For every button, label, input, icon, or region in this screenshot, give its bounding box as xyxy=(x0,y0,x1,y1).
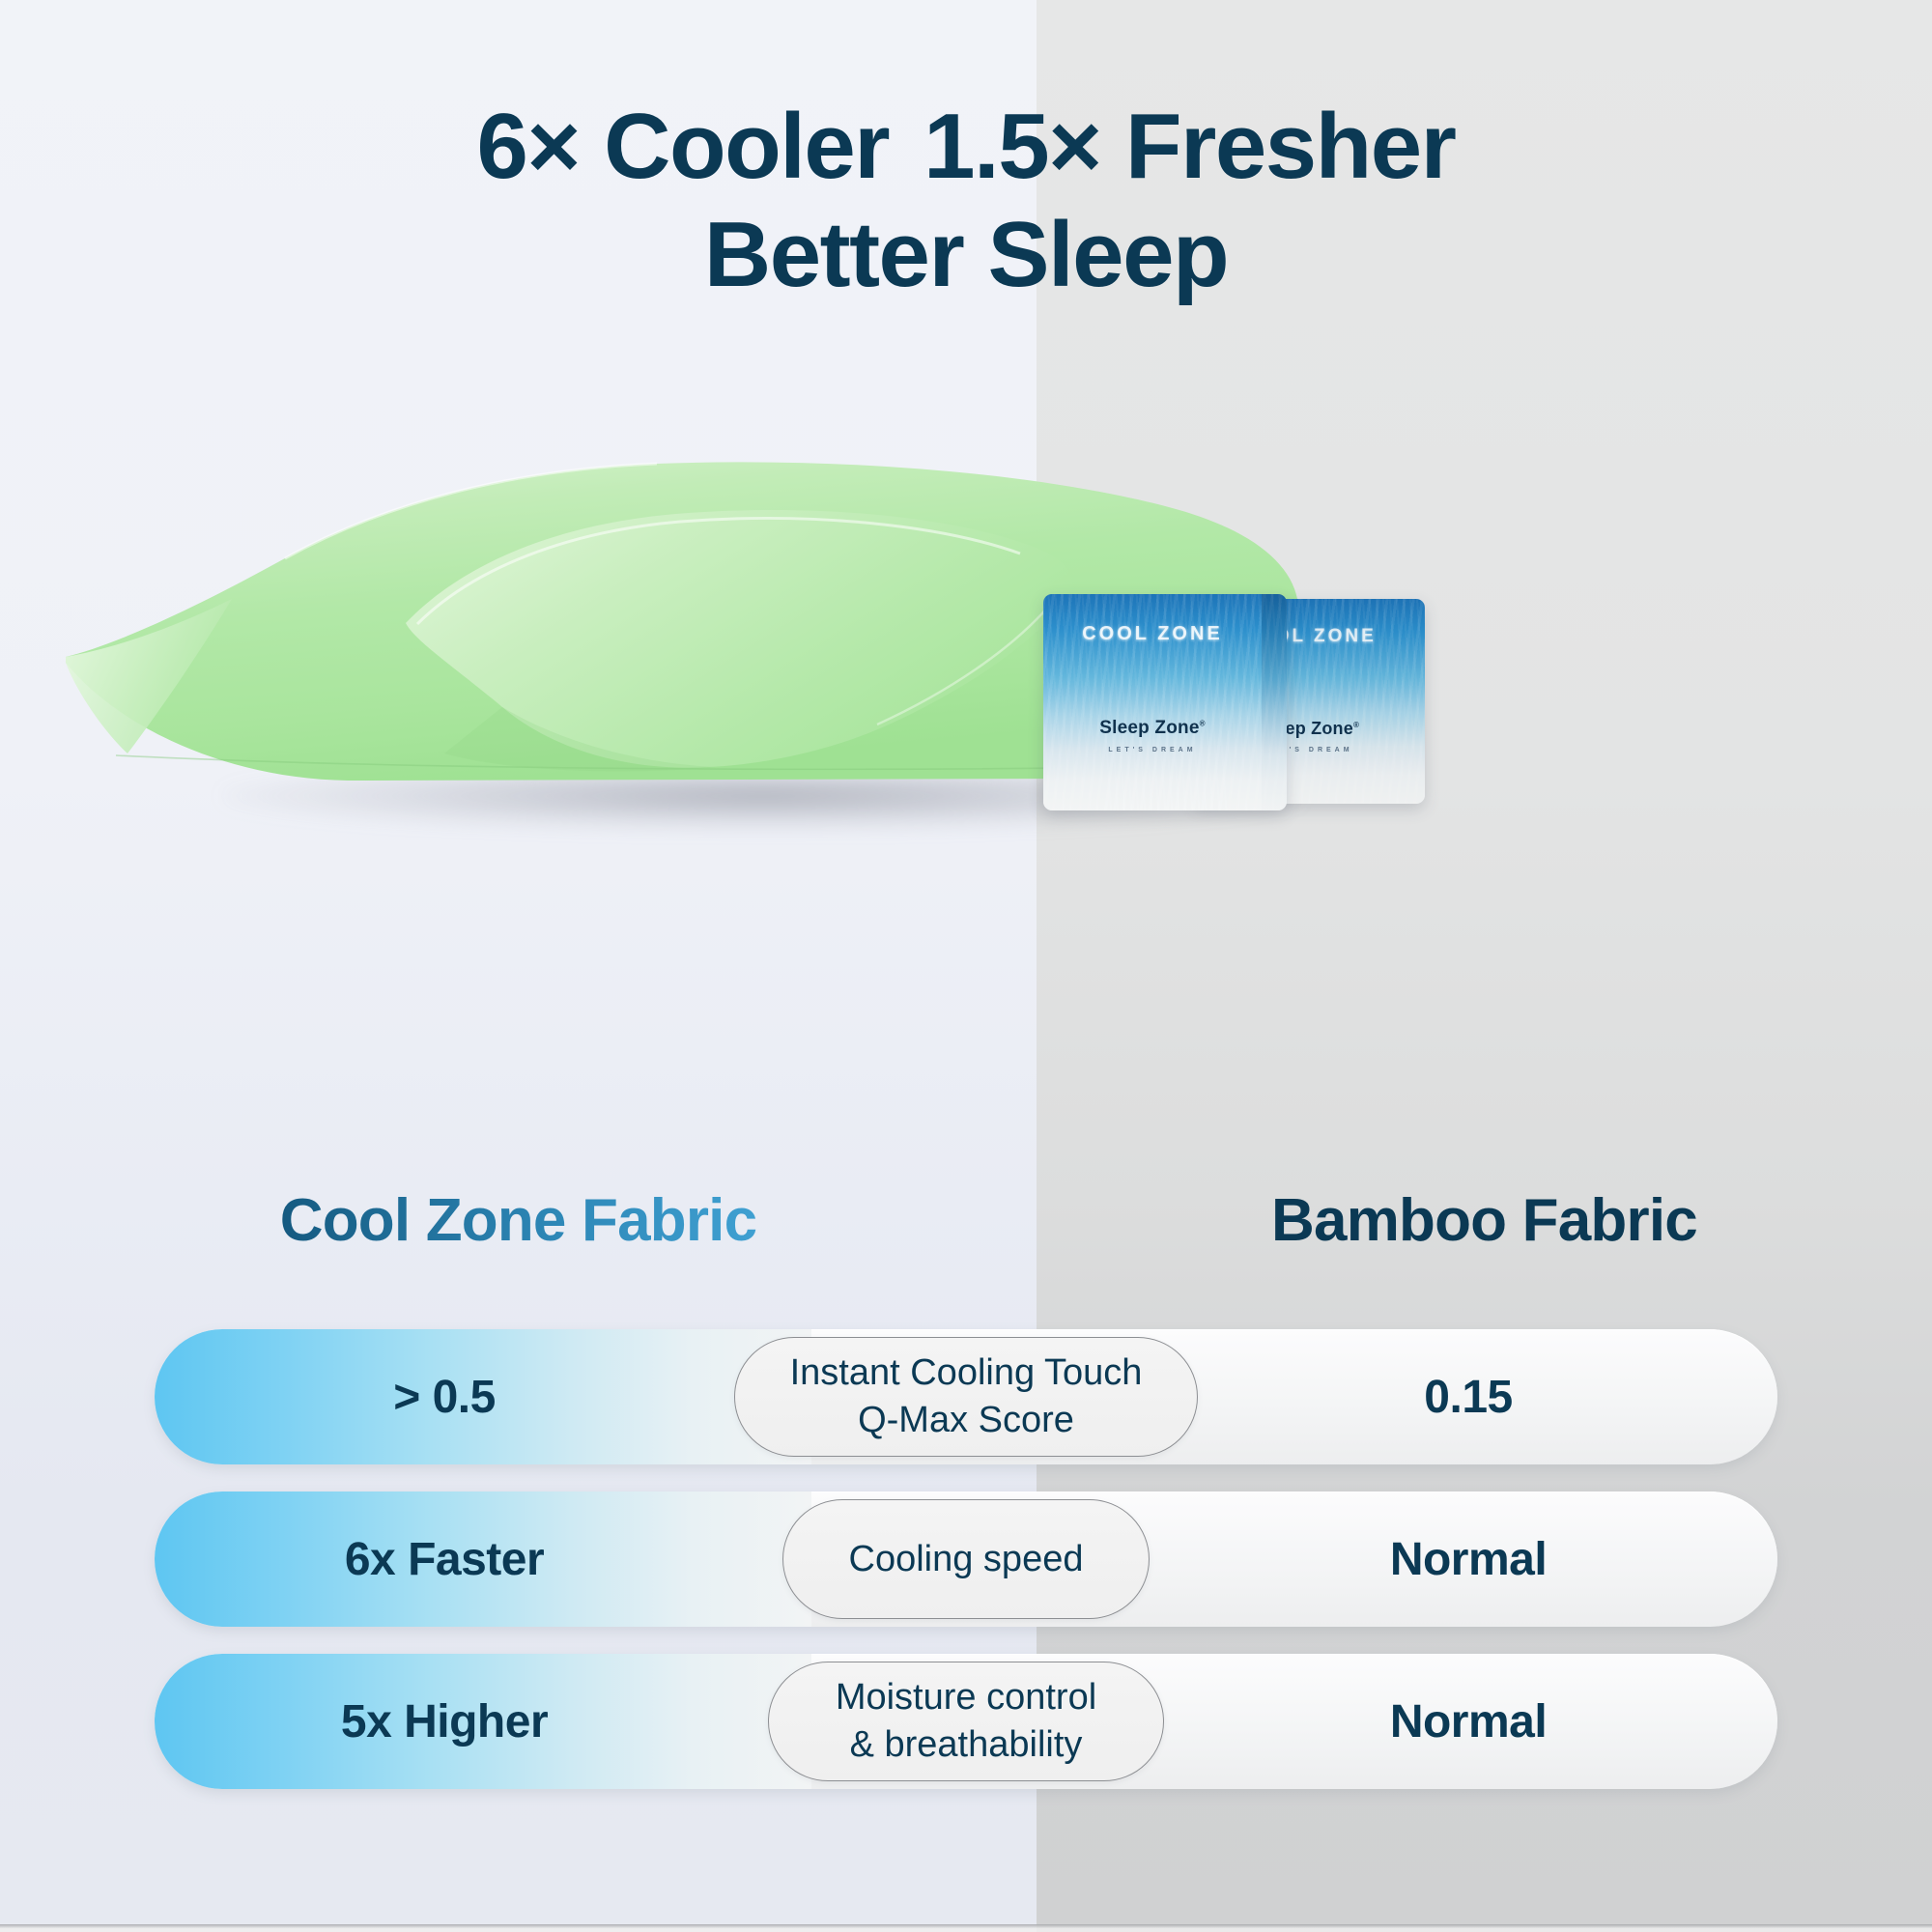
cool-zone-value: > 0.5 xyxy=(155,1329,734,1464)
page-title: 6× Cooler1.5× Fresher Better Sleep xyxy=(0,93,1932,310)
product-box-front: COOL ZONE Sleep Zone® LET'S DREAM xyxy=(1043,594,1287,810)
bamboo-value: Normal xyxy=(1159,1654,1777,1789)
box-brand-label: Sleep Zone® xyxy=(1043,718,1262,739)
heading-bamboo-fabric: Bamboo Fabric xyxy=(1037,1186,1932,1255)
attribute-label: Cooling speed xyxy=(782,1499,1150,1619)
box-side-panel xyxy=(1262,594,1287,810)
product-boxes: COOL ZONE Sleep Zone® LET'S DREAM COOL Z… xyxy=(1043,594,1430,816)
comparison-table: > 0.5 Instant Cooling Touch Q-Max Score … xyxy=(0,1329,1932,1816)
headline-line-1: 6× Cooler1.5× Fresher xyxy=(0,93,1932,201)
box-tagline: LET'S DREAM xyxy=(1043,747,1262,753)
headline-line-2: Better Sleep xyxy=(0,201,1932,309)
cool-zone-value: 5x Higher xyxy=(155,1654,734,1789)
headline-fresher: 1.5× Fresher xyxy=(923,95,1455,198)
cool-zone-value: 6x Faster xyxy=(155,1492,734,1627)
attribute-label: Moisture control & breathability xyxy=(768,1662,1164,1781)
box-cool-zone-label: COOL ZONE xyxy=(1043,623,1262,645)
comparison-row: > 0.5 Instant Cooling Touch Q-Max Score … xyxy=(0,1329,1932,1464)
comparison-column-headings: Cool Zone Fabric Bamboo Fabric xyxy=(0,1186,1932,1293)
comparison-row: 6x Faster Cooling speed Normal xyxy=(0,1492,1932,1627)
background-bottom-edge xyxy=(0,1924,1932,1932)
heading-cool-zone-fabric: Cool Zone Fabric xyxy=(0,1186,1037,1255)
bamboo-value: 0.15 xyxy=(1159,1329,1777,1464)
comparison-row: 5x Higher Moisture control & breathabili… xyxy=(0,1654,1932,1789)
bamboo-value: Normal xyxy=(1159,1492,1777,1627)
headline-cooler: 6× Cooler xyxy=(476,95,889,198)
attribute-label: Instant Cooling Touch Q-Max Score xyxy=(734,1337,1198,1457)
product-scene: COOL ZONE Sleep Zone® LET'S DREAM COOL Z… xyxy=(0,415,1932,956)
